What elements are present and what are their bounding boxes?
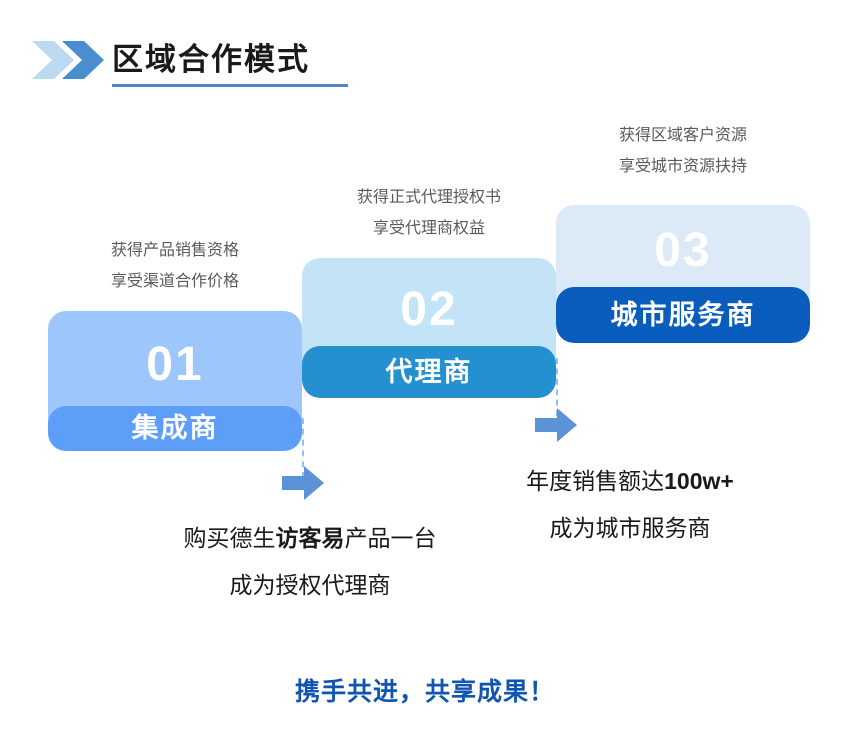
tier-caption-01-line2: 享受渠道合作价格	[48, 266, 302, 297]
tier-card-02[interactable]: 02 代理商	[302, 258, 556, 398]
tier-requirement-1-suffix: 产品一台	[345, 525, 437, 551]
tier-requirement-2: 年度销售额达100w+ 成为城市服务商	[450, 458, 810, 552]
tier-number-01: 01	[48, 311, 302, 389]
tier-requirement-2-line1: 年度销售额达100w+	[450, 458, 810, 505]
tier-caption-01: 获得产品销售资格 享受渠道合作价格	[48, 235, 302, 297]
footer-slogan: 携手共进，共享成果！	[0, 672, 850, 708]
tier-requirement-1: 购买德生访客易产品一台 成为授权代理商	[115, 515, 505, 609]
tier-caption-03: 获得区域客户资源 享受城市资源扶持	[556, 120, 810, 182]
tier-caption-03-line2: 享受城市资源扶持	[556, 151, 810, 182]
tier-requirement-2-amount: 100w+	[664, 468, 734, 494]
tier-card-01[interactable]: 01 集成商	[48, 311, 302, 451]
tier-caption-01-line1: 获得产品销售资格	[48, 235, 302, 266]
tier-caption-03-line1: 获得区域客户资源	[556, 120, 810, 151]
progress-arrow-right-icon-1	[282, 466, 324, 505]
tier-name-01: 集成商	[48, 406, 302, 451]
tier-requirement-1-line2: 成为授权代理商	[115, 562, 505, 609]
tier-requirement-1-prefix: 购买德生	[184, 525, 276, 551]
page-header: 区域合作模式	[0, 0, 850, 110]
tier-requirement-2-prefix: 年度销售额达	[526, 468, 664, 494]
tier-requirement-2-line2: 成为城市服务商	[450, 505, 810, 552]
page-title: 区域合作模式	[112, 40, 310, 80]
tier-requirement-1-product: 访客易	[276, 525, 345, 551]
tier-number-03: 03	[556, 205, 810, 275]
tier-caption-02: 获得正式代理授权书 享受代理商权益	[302, 182, 556, 244]
tier-card-03[interactable]: 03 城市服务商	[556, 205, 810, 343]
double-chevron-icon	[32, 41, 104, 79]
progress-arrow-right-icon-2	[535, 408, 577, 447]
tier-number-02: 02	[302, 258, 556, 334]
tier-requirement-1-line1: 购买德生访客易产品一台	[115, 515, 505, 562]
tier-name-03: 城市服务商	[556, 287, 810, 343]
tier-caption-02-line1: 获得正式代理授权书	[302, 182, 556, 213]
title-underline	[112, 84, 348, 87]
tier-caption-02-line2: 享受代理商权益	[302, 213, 556, 244]
tier-name-02: 代理商	[302, 346, 556, 398]
